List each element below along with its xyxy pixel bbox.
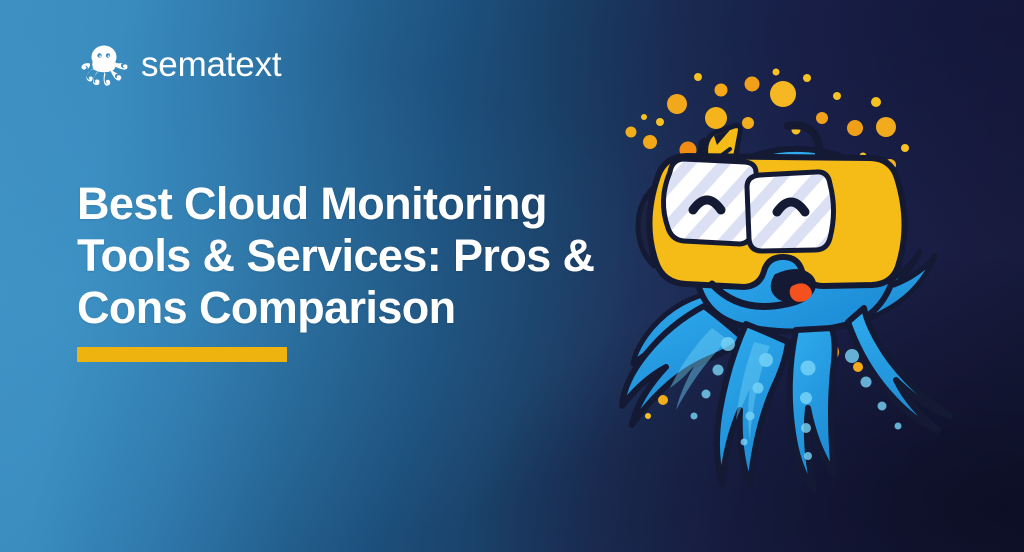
- hero-banner: sematext Best Cloud Monitoring Tools & S…: [0, 0, 1024, 552]
- snorkeling-octopus-mascot: [600, 60, 1024, 520]
- octopus-logo-icon: [76, 39, 130, 89]
- sematext-logo[interactable]: sematext: [76, 36, 281, 92]
- sematext-wordmark: sematext: [141, 47, 281, 82]
- title-accent-bar: [77, 347, 287, 362]
- page-title: Best Cloud Monitoring Tools & Services: …: [77, 178, 657, 334]
